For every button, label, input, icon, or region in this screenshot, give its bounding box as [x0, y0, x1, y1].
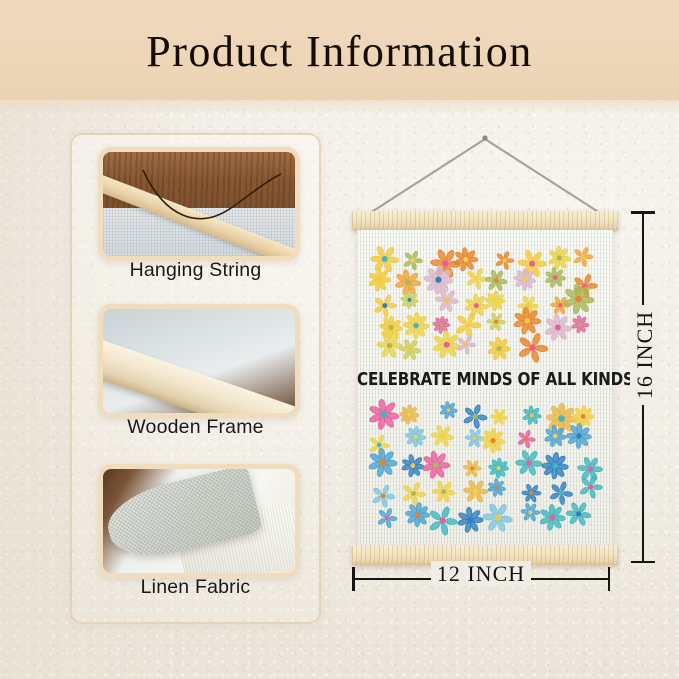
height-dimension-label: 16 INCH: [630, 305, 660, 405]
linen-poster: CELEBRATE MINDS OF ALL KINDS: [357, 230, 613, 546]
top-wood-bar: [352, 211, 618, 231]
feature-label: Linen Fabric: [72, 576, 319, 599]
flower-wall-hanging: CELEBRATE MINDS OF ALL KINDS: [340, 133, 630, 573]
poster-slogan: CELEBRATE MINDS OF ALL KINDS: [357, 369, 613, 390]
string-icon: [103, 152, 295, 256]
wooden-frame-photo: [98, 304, 300, 418]
hanging-cord: [340, 133, 630, 223]
linen-fabric-photo: [98, 464, 300, 578]
header-fade: [0, 100, 679, 114]
hanging-string-photo: [98, 147, 300, 261]
page-title: Product Information: [0, 26, 679, 77]
feature-label: Wooden Frame: [72, 416, 319, 439]
product-information-image: Product Information Hanging String: [0, 0, 679, 679]
width-dimension-label: 12 INCH: [352, 561, 610, 587]
material-feature-panel: Hanging String Wooden Frame Linen Fa: [70, 133, 321, 624]
feature-label: Hanging String: [72, 259, 319, 282]
